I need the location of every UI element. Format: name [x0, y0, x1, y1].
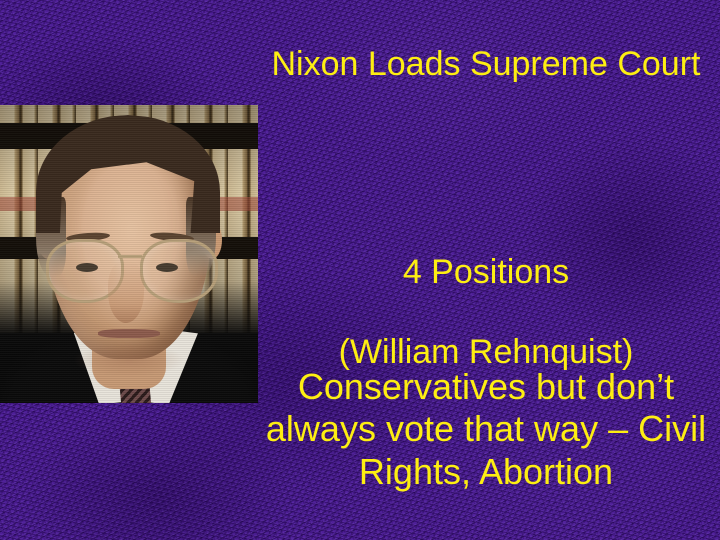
slide-title: Nixon Loads Supreme Court: [252, 44, 720, 84]
presentation-slide: Nixon Loads Supreme Court 4 Positions (W…: [0, 0, 720, 540]
eyeglass-lens-right: [140, 239, 218, 303]
slide-bottom-text: Conservatives but don’t always vote that…: [252, 366, 720, 493]
middle-line-positions: 4 Positions: [252, 252, 720, 292]
chin-shading: [74, 343, 184, 377]
mouth: [98, 329, 160, 338]
rehnquist-portrait-photo: [0, 105, 258, 403]
eyeglass-bridge: [118, 255, 142, 258]
nose: [108, 261, 144, 323]
